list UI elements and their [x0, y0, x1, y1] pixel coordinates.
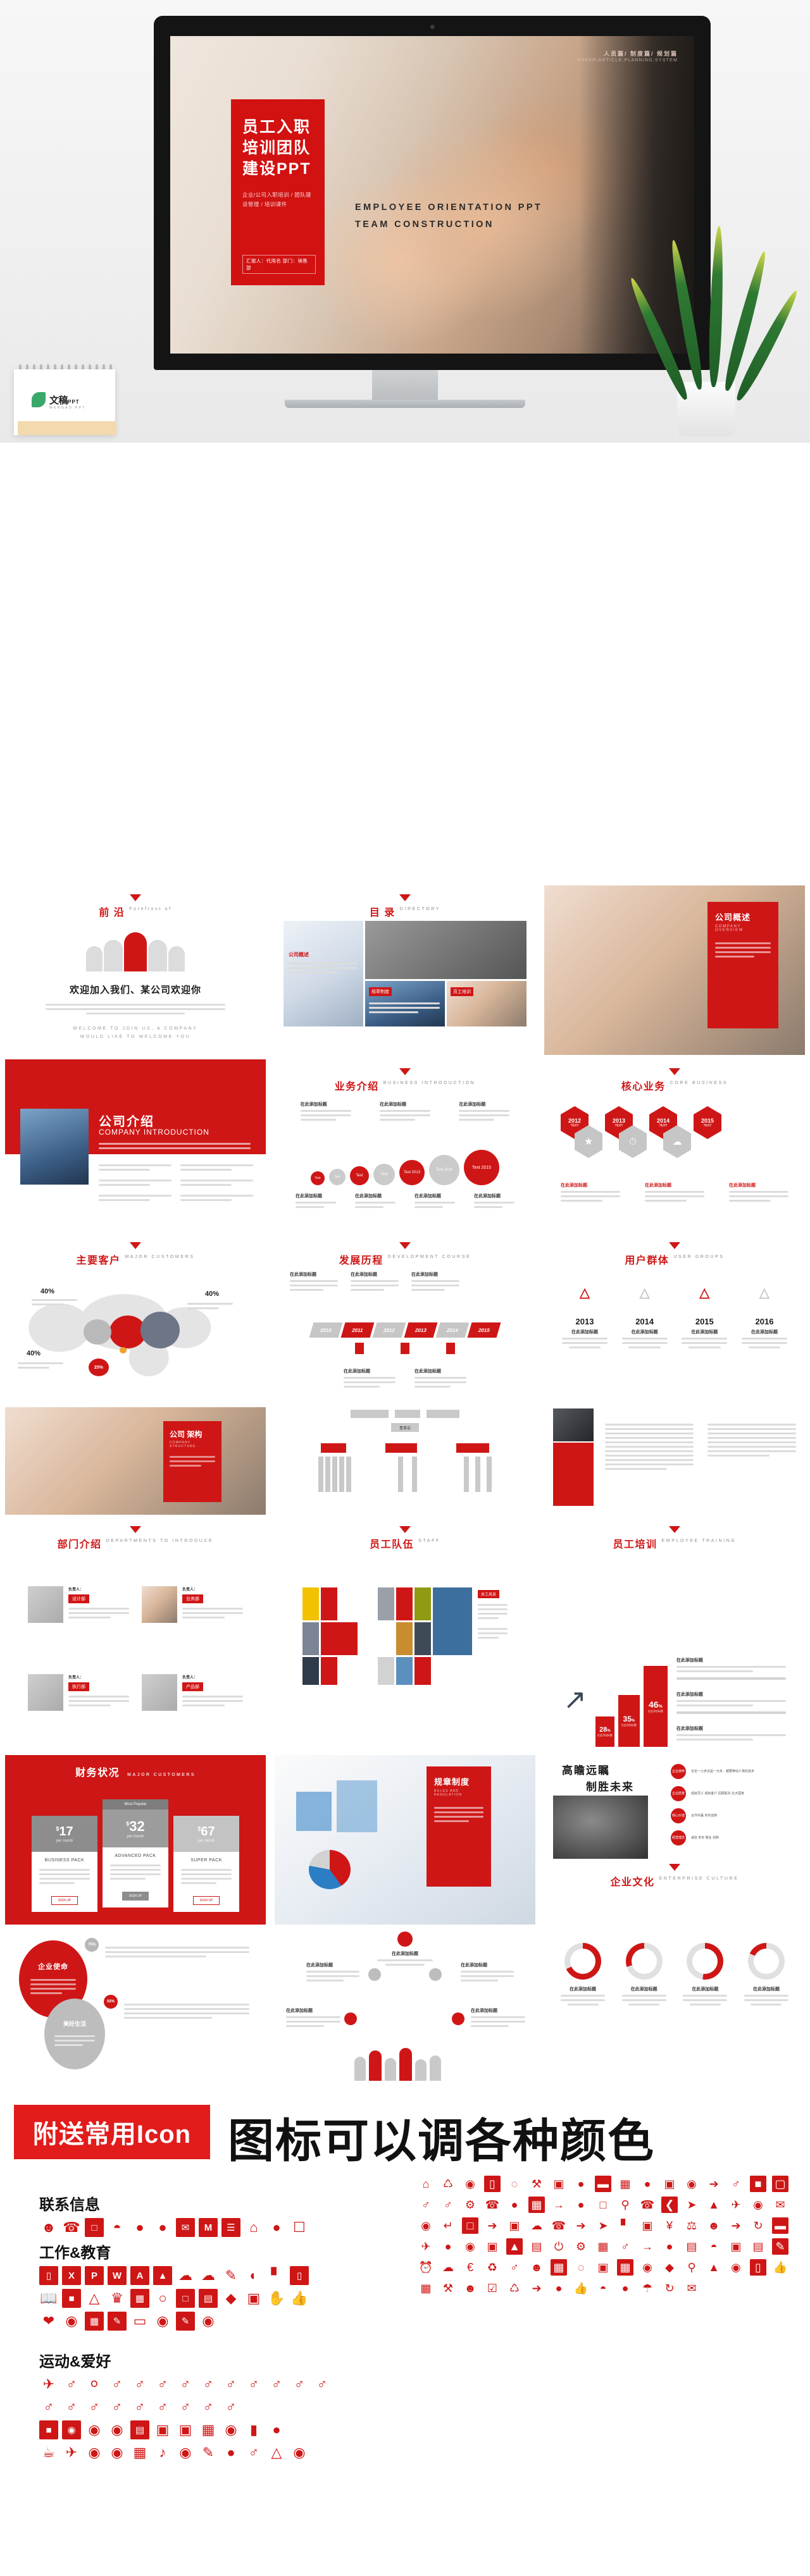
- dancing-icon[interactable]: ♂: [176, 2375, 195, 2394]
- caption: 在此添加标题: [459, 1101, 509, 1107]
- compass-icon[interactable]: ◉: [85, 2443, 104, 2462]
- slide-thumbnail[interactable]: 公司介绍 COMPANY INTRODUCTION: [5, 1059, 266, 1229]
- magnifier-icon[interactable]: ⚲: [683, 2259, 700, 2276]
- people-group-icon[interactable]: ☻: [528, 2259, 545, 2276]
- pie-chart-icon[interactable]: ◐: [244, 2266, 263, 2285]
- diamond-icon[interactable]: ◆: [661, 2259, 678, 2276]
- slide-thumbnail[interactable]: 员工风采: [275, 1581, 535, 1751]
- slide-thumbnail[interactable]: 业务介绍BUSINESS INTRODUCTION 在此添加标题 在此添加标题 …: [275, 1059, 535, 1229]
- slide-thumbnail[interactable]: ↗ 28% 在此添加标题 35% 在此添加标题 46% 在此添加标题: [544, 1581, 805, 1751]
- piggy-small-icon[interactable]: ●: [551, 2280, 567, 2296]
- apple-icon[interactable]: ●: [506, 2197, 523, 2213]
- cloud-download-icon[interactable]: ☁: [176, 2266, 195, 2285]
- plane-icon[interactable]: ✈: [418, 2238, 434, 2255]
- bubble: Text 2013: [399, 1160, 425, 1185]
- violin-icon[interactable]: ♪: [153, 2443, 172, 2462]
- mail-circle-icon[interactable]: ✉: [683, 2280, 700, 2296]
- gas-pump-icon[interactable]: ▦: [595, 2238, 611, 2255]
- arrow-dot-icon[interactable]: →: [551, 2197, 567, 2213]
- ballet-icon[interactable]: ♂: [244, 2443, 263, 2462]
- slide-title-cn: 前 沿: [99, 904, 125, 919]
- culture-headline: 制胜未来: [586, 1778, 634, 1794]
- airplane-icon[interactable]: ✈: [62, 2443, 81, 2462]
- arrow-circle-right-icon[interactable]: ➔: [528, 2280, 545, 2296]
- culture-tag: 经营理念: [671, 1830, 686, 1846]
- overlay-card: 公司 架构 COMPANY STRUCTURE: [163, 1421, 221, 1502]
- caption: 在此添加标题: [355, 1193, 396, 1199]
- trophy-icon[interactable]: ♛: [108, 2289, 127, 2308]
- triangle-marker: [669, 1242, 680, 1249]
- slide-thumbnail[interactable]: 财务状况 MAJOR CUSTOMERS $17 per month BUSIN…: [5, 1755, 266, 1925]
- dept-label: 负责人：: [182, 1586, 243, 1592]
- cloud-upload-icon[interactable]: ☁: [199, 2266, 218, 2285]
- slide-thumbnail[interactable]: 前 沿Forefront of 欢迎加入我们、某公司欢迎你 WELCOME TO…: [5, 885, 266, 1055]
- meeting-icon[interactable]: ▲: [706, 2197, 722, 2213]
- easel-icon[interactable]: △: [267, 2443, 286, 2462]
- alarm-clock-icon[interactable]: ⏰: [418, 2259, 434, 2276]
- monitor-screen: 人员篇/ 制度篇/ 规划篇 PAPER;ARTICLE;PLANNING;SYS…: [170, 36, 694, 354]
- year-label: 2013: [613, 1118, 625, 1124]
- hero-title-cn: 员工入职 培训团队 建设PPT: [242, 117, 316, 180]
- yen-icon[interactable]: ¥: [661, 2217, 678, 2234]
- triangle-marker: [130, 1242, 141, 1249]
- aperture-icon[interactable]: ◉: [199, 2312, 218, 2331]
- dots-arrow-icon[interactable]: ➔: [484, 2217, 501, 2234]
- baseball-icon[interactable]: ♂: [176, 2398, 195, 2417]
- bubble: Text: [329, 1169, 346, 1185]
- arrow-right-circle-icon[interactable]: ➔: [706, 2176, 722, 2192]
- pin-icon[interactable]: ●: [617, 2280, 633, 2296]
- node-icon: [344, 2012, 357, 2025]
- gamepad-icon[interactable]: ■: [39, 2420, 58, 2439]
- calculator-icon[interactable]: ▦: [617, 2259, 633, 2276]
- badminton-icon[interactable]: ♂: [62, 2398, 81, 2417]
- slide-title-en: ENTERPRISE CULTURE: [659, 1875, 739, 1883]
- phone-icon[interactable]: ☎: [62, 2218, 81, 2237]
- checkbox-icon[interactable]: ☑: [484, 2280, 501, 2296]
- hero-title-block: 员工入职 培训团队 建设PPT 企业/公司入职培训 / 团队建设管理 / 培训课…: [231, 99, 325, 285]
- layers-icon[interactable]: ◆: [221, 2289, 240, 2308]
- slide-header: 主要客户MAJOR CUSTOMERS: [5, 1242, 266, 1267]
- gift-box-icon[interactable]: ▣: [661, 2176, 678, 2192]
- node-icon: [368, 1968, 381, 1981]
- dept-badge: 产品部: [182, 1682, 203, 1691]
- printer-icon[interactable]: ▤: [199, 2289, 218, 2308]
- tennis-icon[interactable]: ♂: [313, 2375, 332, 2394]
- building-icon: [401, 1343, 409, 1354]
- file-icon[interactable]: ▯: [39, 2266, 58, 2285]
- android-icon[interactable]: ◉: [683, 2176, 700, 2192]
- archery-icon[interactable]: ♂: [62, 2375, 81, 2394]
- return-arrow-icon[interactable]: ↵: [440, 2217, 456, 2234]
- clipboard-clock-icon[interactable]: ▣: [484, 2238, 501, 2255]
- home-pin-icon[interactable]: ⌂: [244, 2218, 263, 2237]
- piano-icon[interactable]: ▦: [130, 2443, 149, 2462]
- calendar-logo-text: 文稿PPT: [49, 393, 80, 407]
- culture-text: 无论一小步还是一大步，都要带动人类的进步: [691, 1769, 754, 1775]
- bank-icon[interactable]: ▦: [617, 2176, 633, 2192]
- signal-bars-icon[interactable]: ▘: [617, 2217, 633, 2234]
- steering-icon[interactable]: ◉: [153, 2312, 172, 2331]
- slide-thumbnail[interactable]: 员工培训EMPLOYEE TRAINING: [544, 1407, 805, 1577]
- airplane-icon[interactable]: ✈: [728, 2197, 744, 2213]
- page-icon[interactable]: ▭: [130, 2312, 149, 2331]
- running-person-icon[interactable]: ♂: [440, 2197, 456, 2213]
- standing-person-icon[interactable]: ♂: [418, 2197, 434, 2213]
- slide-thumbnail[interactable]: 在此添加标题 在此添加标题 在此添加标题: [544, 1929, 805, 2098]
- speech-bubble-icon[interactable]: ●: [639, 2176, 656, 2192]
- year-label: 2012: [568, 1118, 581, 1124]
- books-icon[interactable]: ▮: [244, 2420, 263, 2439]
- mail-icon[interactable]: ✉: [772, 2197, 788, 2213]
- skating-icon[interactable]: ♂: [108, 2375, 127, 2394]
- desk-person-icon[interactable]: ♂: [617, 2238, 633, 2255]
- world-map-icon[interactable]: ◉: [728, 2259, 744, 2276]
- bus-icon[interactable]: ▤: [750, 2238, 766, 2255]
- mission-bubble: 企业使命: [38, 1961, 68, 1971]
- camera-icon[interactable]: ◉: [62, 2420, 81, 2439]
- pencil-icon[interactable]: ✎: [199, 2443, 218, 2462]
- trend-arrow-icon: ↗: [563, 1686, 587, 1714]
- slide-title-en: CORE BUSINESS: [670, 1080, 728, 1087]
- person-raise-icon[interactable]: ♂: [728, 2176, 744, 2192]
- mirror-icon[interactable]: ◌: [573, 2259, 589, 2276]
- location-icon[interactable]: ●: [440, 2238, 456, 2255]
- dept-badge: 业务部: [182, 1594, 203, 1603]
- slide-thumbnail[interactable]: 公司 架构 COMPANY STRUCTURE 部门介绍DEPARTMENTS …: [5, 1407, 266, 1577]
- football-icon[interactable]: ♂: [290, 2375, 309, 2394]
- pack-name: BUSINESS PACK: [32, 1852, 97, 1866]
- money-bag-icon[interactable]: ●: [573, 2176, 589, 2192]
- clapperboard-icon[interactable]: ▤: [130, 2420, 149, 2439]
- shopping-cart-icon[interactable]: ▣: [728, 2238, 744, 2255]
- atom-icon[interactable]: ◉: [176, 2443, 195, 2462]
- slide-thumbnail[interactable]: 企业文化ENTERPRISE CULTURE 高瞻远瞩 制胜未来 企业使命无论一…: [544, 1755, 805, 1925]
- slide-title-en: RULES AND REGULATION: [434, 1789, 483, 1797]
- edit-box-icon[interactable]: ✎: [772, 2238, 788, 2255]
- briefcase-icon[interactable]: ■: [62, 2289, 81, 2308]
- sync-icon[interactable]: ↻: [750, 2217, 766, 2234]
- movie-camera-icon[interactable]: ▣: [153, 2420, 172, 2439]
- globe-grid-icon[interactable]: ◉: [750, 2197, 766, 2213]
- notepad-icon[interactable]: ✎: [176, 2312, 195, 2331]
- org-chart: 董事会: [275, 1410, 535, 1515]
- dept-label: 负责人：: [68, 1586, 129, 1592]
- pack-name: SUPER PACK: [173, 1852, 239, 1866]
- weightlifting-icon[interactable]: ♂: [244, 2375, 263, 2394]
- rings-icon[interactable]: ♂: [108, 2398, 127, 2417]
- pen-icon[interactable]: ✎: [221, 2266, 240, 2285]
- caption: 在此添加标题: [676, 1725, 786, 1732]
- recycle-icon[interactable]: ♻: [484, 2259, 501, 2276]
- database-icon[interactable]: ▣: [244, 2289, 263, 2308]
- share-icon[interactable]: ❮: [661, 2197, 678, 2213]
- slide-body: 欢迎加入我们、某公司欢迎你 WELCOME TO JOIN US, A COMP…: [5, 925, 266, 1051]
- hands-idea-icon[interactable]: ✋: [267, 2289, 286, 2308]
- slide-body: 负责人： 设计部 负责人： 业务部 负责人：: [5, 1586, 266, 1747]
- monitor-icon[interactable]: □: [176, 2289, 195, 2308]
- slide-thumbnail[interactable]: 在此添加标题 在此添加标题 在此添加标题 在此添加标题 在此添加标题: [275, 1929, 535, 2098]
- search-icon[interactable]: ⚲: [617, 2197, 633, 2213]
- picture-icon[interactable]: ▲: [506, 2238, 523, 2255]
- walking-icon[interactable]: ♂: [153, 2375, 172, 2394]
- piano-small-icon[interactable]: ▦: [418, 2280, 434, 2296]
- icon-category-label: 联系信息: [39, 2192, 394, 2214]
- suitcase-icon[interactable]: ■: [750, 2176, 766, 2192]
- slide-body: 企业使命 美好生活 75% 55%: [5, 1935, 266, 2095]
- tree-icon: ▵: [622, 1281, 668, 1303]
- welcome-headline: 欢迎加入我们、某公司欢迎你: [5, 983, 266, 996]
- truck-icon[interactable]: ▤: [683, 2238, 700, 2255]
- wrench-icon[interactable]: ⚒: [440, 2280, 456, 2296]
- monitor-mockup: 人员篇/ 制度篇/ 规划篇 PAPER;ARTICLE;PLANNING;SYS…: [154, 16, 711, 370]
- cheer-icon[interactable]: ♂: [153, 2398, 172, 2417]
- phone-device-icon[interactable]: □: [462, 2217, 478, 2234]
- scales-icon[interactable]: ⚖: [683, 2217, 700, 2234]
- bar-chart-icon[interactable]: ▘: [267, 2266, 286, 2285]
- contact-icon-group: 联系信息 ☻ ☎ □ ◓ ● ● ✉ M ☰ ⌂ ● ☐: [39, 2192, 394, 2237]
- calendar-icon[interactable]: ▦: [85, 2312, 104, 2331]
- thumbs-up-icon[interactable]: 👍: [290, 2289, 309, 2308]
- tree-icon: ▵: [562, 1281, 607, 1303]
- zero-icon[interactable]: ◌: [506, 2176, 523, 2192]
- golf-icon[interactable]: ♂: [130, 2398, 149, 2417]
- weibo-icon[interactable]: ◉: [462, 2176, 478, 2192]
- windows-icon[interactable]: ▦: [551, 2259, 567, 2276]
- highlighted-person-icon: [124, 932, 147, 971]
- slide-thumbnail[interactable]: 目 录DIRECTORY 公司概述 规章制度 员工培训: [275, 885, 535, 1055]
- compass-globe-icon[interactable]: ◉: [418, 2217, 434, 2234]
- treadmill-icon[interactable]: ♂: [267, 2375, 286, 2394]
- folder-blue-icon[interactable]: ▯: [750, 2259, 766, 2276]
- excel-icon[interactable]: X: [62, 2266, 81, 2285]
- chat-box-icon[interactable]: ▬: [772, 2217, 788, 2234]
- sale-badge-icon[interactable]: ◉: [462, 2238, 478, 2255]
- cloud-icon[interactable]: ☁: [528, 2217, 545, 2234]
- culture-text: 诚信 务实 敬业 创新: [691, 1835, 719, 1841]
- popular-badge: Most Popular: [103, 1799, 168, 1809]
- telephone-icon[interactable]: ☎: [551, 2217, 567, 2234]
- rss-icon[interactable]: ◓: [108, 2218, 127, 2237]
- china-map-icon[interactable]: ▲: [706, 2259, 722, 2276]
- percent-badge: 75%: [85, 1938, 99, 1952]
- building-icon: [355, 1343, 364, 1354]
- cycling-icon[interactable]: ⚪: [85, 2375, 104, 2394]
- umbrella-icon[interactable]: ☂: [639, 2280, 656, 2296]
- edit-document-icon[interactable]: ✎: [108, 2312, 127, 2331]
- home-icon[interactable]: ⌂: [418, 2176, 434, 2192]
- trash-icon[interactable]: ♺: [440, 2176, 456, 2192]
- slide-header: 员工队伍STAFF: [275, 1526, 535, 1551]
- hero-kicker-cn: 人员篇/ 制度篇/ 规划篇: [578, 50, 678, 58]
- pdf-icon[interactable]: A: [130, 2266, 149, 2285]
- pricing-card[interactable]: $67 per month SUPER PACK SIGN UP: [173, 1816, 239, 1912]
- gymnastics-icon[interactable]: ♂: [85, 2398, 104, 2417]
- euro-icon[interactable]: €: [462, 2259, 478, 2276]
- person-gear-icon[interactable]: ⚙: [573, 2238, 589, 2255]
- cursor-icon[interactable]: ➤: [683, 2197, 700, 2213]
- folder-open-icon[interactable]: ▯: [484, 2176, 501, 2192]
- pos-terminal-icon[interactable]: ▦: [528, 2197, 545, 2213]
- clock-icon[interactable]: ●: [573, 2197, 589, 2213]
- message-list-icon[interactable]: ☰: [221, 2218, 240, 2237]
- boxing-icon[interactable]: ♂: [199, 2375, 218, 2394]
- timeline-step: 2013: [404, 1322, 438, 1338]
- headphones-icon[interactable]: ◉: [221, 2420, 240, 2439]
- slide-thumbnail[interactable]: 用户群体USER GROUPS ▵ 2013 在此添加标题 ▵ 2014 在此添…: [544, 1233, 805, 1403]
- pricing-card[interactable]: Most Popular $32 per month ADVANCED PACK…: [103, 1799, 168, 1907]
- caption: 在此添加标题: [414, 1368, 466, 1374]
- pricing-card[interactable]: $17 per month BUSINESS PACK SIGN UP: [32, 1816, 97, 1912]
- percent-bubble: 25%: [89, 1359, 109, 1376]
- mug-icon[interactable]: ▢: [772, 2176, 788, 2192]
- folder-icon[interactable]: ▯: [290, 2266, 309, 2285]
- triangle-marker: [669, 1864, 680, 1871]
- power-icon[interactable]: ⏻: [551, 2238, 567, 2255]
- piggy-bank-icon[interactable]: ●: [661, 2238, 678, 2255]
- culture-text: 合作共赢 务实创新: [691, 1813, 717, 1819]
- fencing-icon[interactable]: ♂: [39, 2398, 58, 2417]
- slide-title-cn: 发展历程: [339, 1252, 383, 1267]
- culture-tag: 核心价值: [671, 1808, 686, 1823]
- palette-icon[interactable]: ◉: [290, 2443, 309, 2462]
- running-icon[interactable]: ♂: [130, 2375, 149, 2394]
- icon-badge: 附送常用Icon: [14, 2105, 210, 2159]
- film-reel-icon[interactable]: ◉: [108, 2420, 127, 2439]
- slide-thumbnail[interactable]: 主要客户MAJOR CUSTOMERS 25% 40% 40% 40%: [5, 1233, 266, 1403]
- calendar-page: 文稿PPT WENGAO PPT: [14, 369, 115, 435]
- slide-thumbnail[interactable]: 董事会 员工队伍STAFF: [275, 1407, 535, 1577]
- slide-title-en: STAFF: [418, 1538, 440, 1545]
- arrow-thin-icon[interactable]: →: [639, 2238, 656, 2255]
- slide-thumbnail[interactable]: 规章制度 RULES AND REGULATION: [275, 1755, 535, 1925]
- envelope-icon[interactable]: ✉: [176, 2218, 195, 2237]
- slide-body: ▵ 2013 在此添加标题 ▵ 2014 在此添加标题 ▵ 2015 在此添加标…: [544, 1281, 805, 1399]
- node-icon: [429, 1968, 442, 1981]
- heart-icon[interactable]: ❤: [39, 2312, 58, 2331]
- laptop-icon[interactable]: ▣: [506, 2217, 523, 2234]
- signup-button[interactable]: SIGN UP: [51, 1896, 78, 1905]
- www-icon[interactable]: ◉: [108, 2443, 127, 2462]
- caption: 在此添加标题: [645, 1182, 704, 1188]
- dslr-icon[interactable]: ◉: [85, 2420, 104, 2439]
- triangle-marker: [399, 894, 411, 901]
- contact-person-icon[interactable]: ☻: [39, 2218, 58, 2237]
- 3d-glasses-icon[interactable]: ▣: [176, 2420, 195, 2439]
- award-icon: ★: [575, 1125, 602, 1158]
- slide-header: 前 沿Forefront of: [5, 894, 266, 919]
- signup-button[interactable]: SIGN UP: [193, 1896, 220, 1905]
- soccer-ball-icon[interactable]: ●: [267, 2420, 286, 2439]
- wifi-signal-icon[interactable]: ◓: [706, 2238, 722, 2255]
- slide-title-cn: 公司介绍: [99, 1111, 154, 1130]
- arrow-circle-icon[interactable]: ➔: [728, 2217, 744, 2234]
- globe-arrow-icon[interactable]: ◉: [639, 2259, 656, 2276]
- cloud-small-icon[interactable]: ☁: [440, 2259, 456, 2276]
- battery-icon[interactable]: ▬: [595, 2176, 611, 2192]
- slide-thumbnail[interactable]: 公司概述 COMPANY OVERVIEW: [544, 885, 805, 1055]
- museum-icon[interactable]: ▦: [199, 2420, 218, 2439]
- keyboard-icon[interactable]: ▦: [130, 2289, 149, 2308]
- taxi-icon[interactable]: ▤: [528, 2238, 545, 2255]
- word-icon[interactable]: W: [108, 2266, 127, 2285]
- phone-outline-icon[interactable]: □: [595, 2197, 611, 2213]
- icon-category-label: 运动&爱好: [39, 2349, 406, 2371]
- dept-badge: 设计部: [68, 1594, 89, 1603]
- year-label: 2014: [657, 1118, 670, 1124]
- contact-card-icon[interactable]: ☻: [462, 2280, 478, 2296]
- leaf-icon: [32, 392, 46, 407]
- trash-circle-icon[interactable]: ♺: [506, 2280, 523, 2296]
- staff-tag: 员工风采: [478, 1590, 499, 1598]
- gears-icon[interactable]: ⚙: [462, 2197, 478, 2213]
- stamp-icon[interactable]: ▣: [551, 2176, 567, 2192]
- slide-header: 员工培训EMPLOYEE TRAINING: [544, 1526, 805, 1551]
- graduation-cap-icon[interactable]: △: [85, 2289, 104, 2308]
- slide-title-en: MAJOR CUSTOMERS: [127, 1773, 196, 1777]
- people-pair-icon[interactable]: ☻: [706, 2217, 722, 2234]
- coffee-icon[interactable]: ☕: [39, 2443, 58, 2462]
- inbox-icon[interactable]: ☐: [290, 2218, 309, 2237]
- karate-icon[interactable]: ♂: [199, 2398, 218, 2417]
- wifi-icon[interactable]: ◓: [595, 2280, 611, 2296]
- phone-ring-icon[interactable]: ☎: [639, 2197, 656, 2213]
- image-icon[interactable]: ▲: [153, 2266, 172, 2285]
- slide-thumbnail[interactable]: 核心业务CORE BUSINESS 2012TEXT 2013TEXT 2014…: [544, 1059, 805, 1229]
- drink-cup-icon[interactable]: ▣: [595, 2259, 611, 2276]
- slide-thumbnail[interactable]: 发展历程DEVELOPMENT COURSE 在此添加标题 在此添加标题 在此添…: [275, 1233, 535, 1403]
- caption: 在此添加标题: [682, 1329, 727, 1335]
- slide-thumbnail[interactable]: 负责人： 设计部 负责人： 业务部 负责人：: [5, 1581, 266, 1751]
- caption: 在此添加标题: [729, 1182, 788, 1188]
- presenter-icon[interactable]: ♂: [506, 2259, 523, 2276]
- skiing-icon[interactable]: ♂: [221, 2375, 240, 2394]
- arrow-right-icon[interactable]: ➔: [573, 2217, 589, 2234]
- mouse-icon[interactable]: ○: [153, 2289, 172, 2308]
- chat-icon[interactable]: ●: [130, 2218, 149, 2237]
- person-sync-icon[interactable]: ↻: [661, 2280, 678, 2296]
- slide-title-cn: 部门介绍: [58, 1536, 102, 1551]
- signup-button[interactable]: SIGN UP: [122, 1892, 149, 1901]
- map-pin-icon[interactable]: ●: [267, 2218, 286, 2237]
- laptop-small-icon[interactable]: ▣: [639, 2217, 656, 2234]
- bubble: Text 2015: [464, 1150, 499, 1185]
- gmail-icon[interactable]: M: [199, 2218, 218, 2237]
- horse-riding-icon[interactable]: ♂: [221, 2398, 240, 2417]
- smartphone-call-icon[interactable]: ☎: [484, 2197, 501, 2213]
- powerpoint-icon[interactable]: P: [85, 2266, 104, 2285]
- slide-thumbnail[interactable]: 企业使命 美好生活 75% 55%: [5, 1929, 266, 2098]
- thumb-wifi-icon[interactable]: 👍: [573, 2280, 589, 2296]
- arrow-block-icon[interactable]: ➤: [595, 2217, 611, 2234]
- icon-category-label: 工作&教育: [39, 2240, 394, 2262]
- work-icon-group: 工作&教育 ▯ X P W A ▲ ☁ ☁ ✎ ◐ ▘ ▯ 📖 ■ △ ♛ ▦: [39, 2240, 394, 2331]
- thumbs-up-big-icon[interactable]: 👍: [772, 2259, 788, 2276]
- wechat-icon[interactable]: ●: [153, 2218, 172, 2237]
- book-icon[interactable]: 📖: [39, 2289, 58, 2308]
- microphone-icon[interactable]: ●: [221, 2443, 240, 2462]
- globe-icon[interactable]: ◉: [62, 2312, 81, 2331]
- welcome-en-2: WOULD LIKE TO WELCOME YOU: [5, 1033, 266, 1041]
- gavel-icon[interactable]: ⚒: [528, 2176, 545, 2192]
- culture-tag: 企业使命: [671, 1764, 686, 1779]
- mobile-icon[interactable]: □: [85, 2218, 104, 2237]
- node-icon: [397, 1932, 413, 1947]
- swimming-icon[interactable]: ✈: [39, 2375, 58, 2394]
- caption: 在此添加标题: [290, 1271, 338, 1278]
- caption: 在此添加标题: [296, 1193, 336, 1199]
- triangle-marker: [130, 894, 141, 901]
